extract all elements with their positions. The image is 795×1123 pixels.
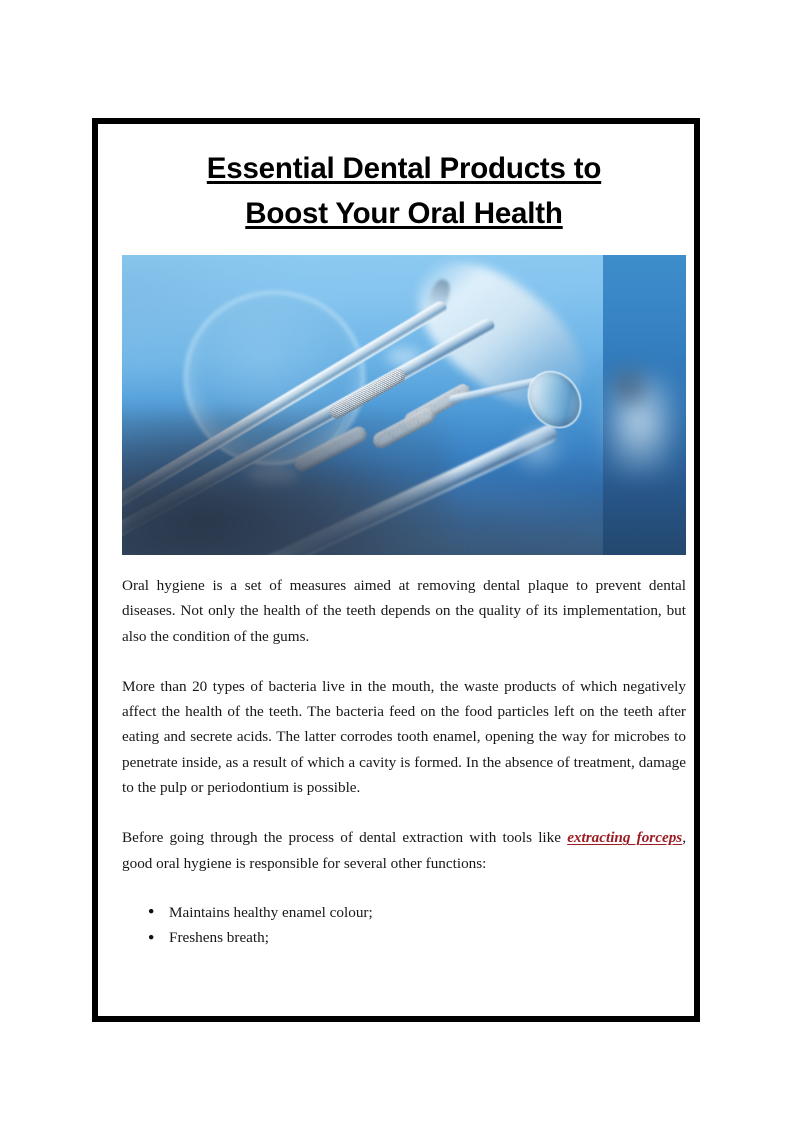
paragraph-oral-hygiene: Oral hygiene is a set of measures aimed … xyxy=(122,573,686,649)
page-title-line-1: Essential Dental Products to xyxy=(207,146,601,191)
benefits-list: Maintains healthy enamel colour; Freshen… xyxy=(122,900,686,951)
document-content: Essential Dental Products to Boost Your … xyxy=(122,146,686,1002)
paragraph-extraction-lead: Before going through the process of dent… xyxy=(122,829,567,846)
list-item: Maintains healthy enamel colour; xyxy=(122,900,686,925)
photo-right-panel-shadow xyxy=(610,366,649,408)
list-item: Freshens breath; xyxy=(122,925,686,950)
photo-shadow-bottomleft xyxy=(122,411,449,555)
paragraph-bacteria: More than 20 types of bacteria live in t… xyxy=(122,674,686,800)
page-border-frame: Essential Dental Products to Boost Your … xyxy=(92,118,700,1022)
hero-image-figure xyxy=(122,255,686,555)
paragraph-extraction: Before going through the process of dent… xyxy=(122,825,686,876)
photo-specular-2 xyxy=(387,348,421,366)
extracting-forceps-link[interactable]: extracting forceps xyxy=(567,829,682,846)
page-title-line-2: Boost Your Oral Health xyxy=(245,191,562,236)
dental-instruments-photo xyxy=(122,255,686,555)
page-title: Essential Dental Products to Boost Your … xyxy=(122,146,686,236)
document-page: Essential Dental Products to Boost Your … xyxy=(0,0,795,1123)
